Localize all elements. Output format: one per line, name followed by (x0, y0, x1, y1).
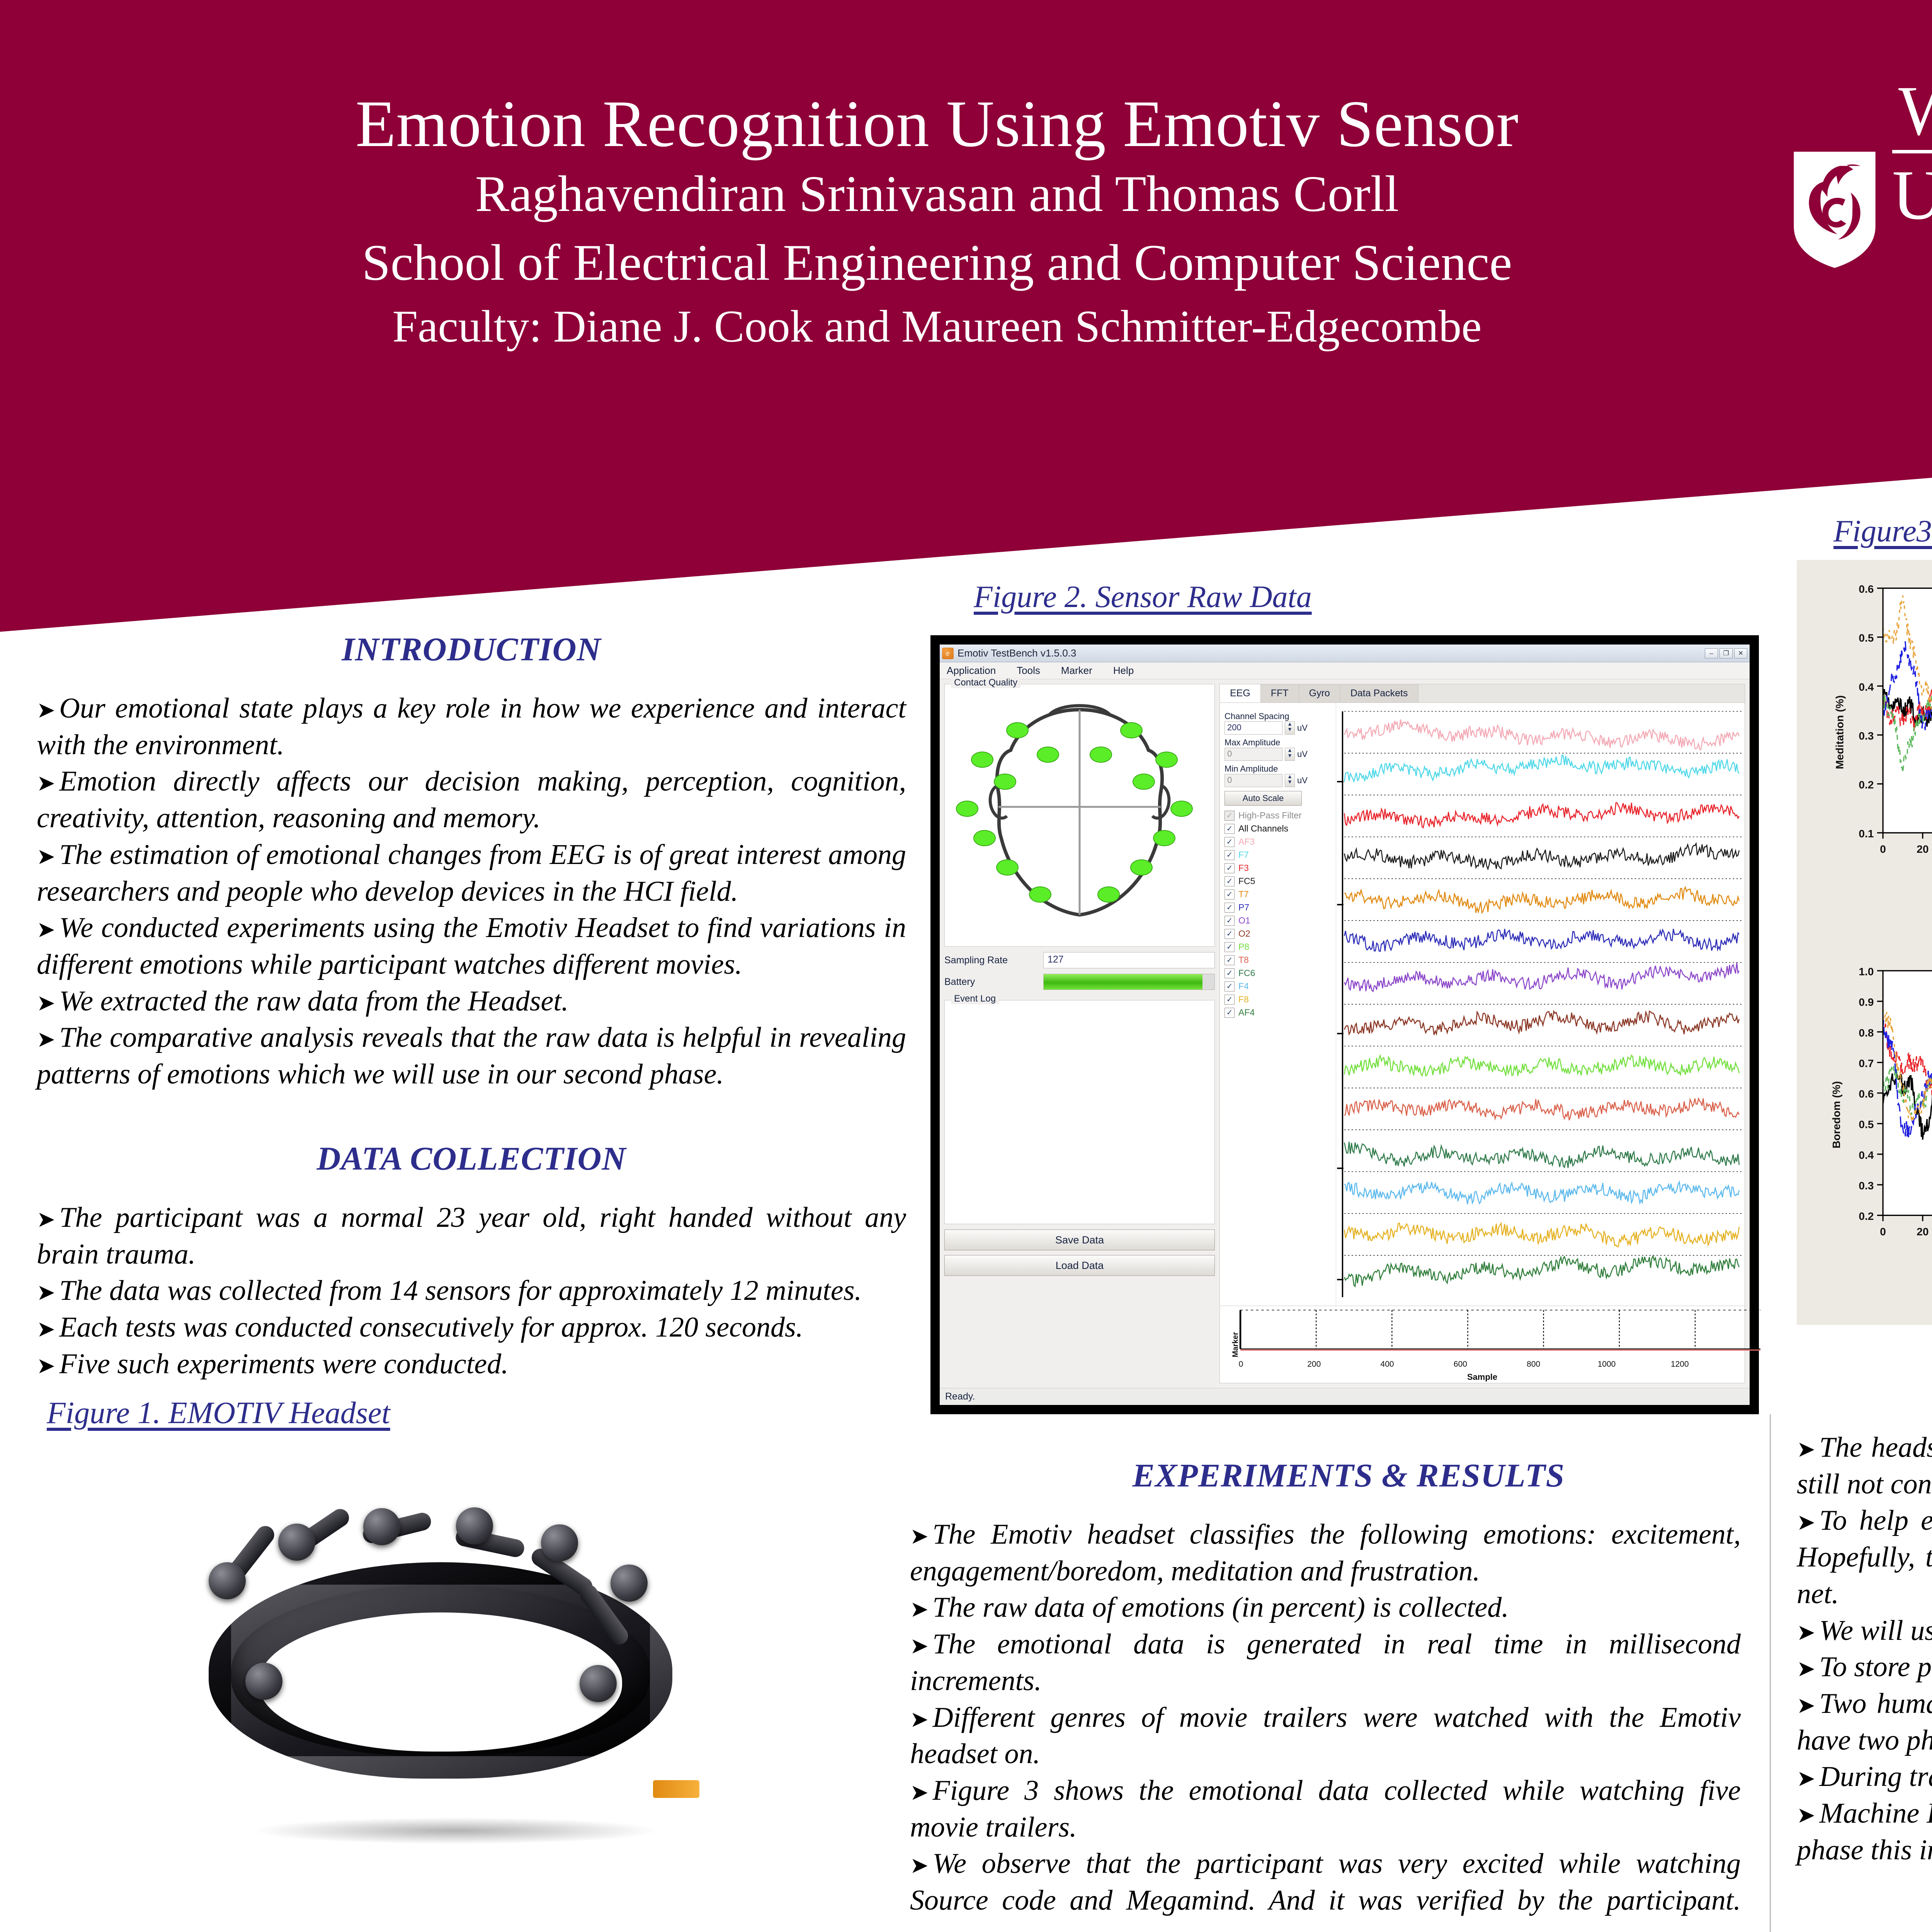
svg-text:0.7: 0.7 (1859, 1057, 1874, 1069)
affiliation: School of Electrical Engineering and Com… (97, 233, 1777, 292)
svg-text:0.4: 0.4 (1859, 1149, 1874, 1161)
svg-text:0.4: 0.4 (1859, 681, 1874, 693)
fp-bullet-4: To store poker and EEG data we will use … (1797, 1649, 1932, 1685)
channel-label-f7: F7 (1238, 850, 1249, 860)
right-column: Figure3. Variation of Emotions Variation… (1797, 514, 1932, 1869)
channel-label-p7: P7 (1238, 902, 1249, 913)
channel-row-f8[interactable]: ✓F8 (1225, 994, 1331, 1005)
fp-bullet-5: Two human players will use the Emotiv he… (1797, 1685, 1932, 1759)
dc-bullet-2: The data was collected from 14 sensors f… (37, 1272, 906, 1309)
eeg-trace-af4 (1344, 1256, 1739, 1286)
channel-row-p7[interactable]: ✓P7 (1225, 902, 1331, 913)
chart-meditation-plot: Meditation (%) 0.10.20.30.40.50.60204060… (1801, 582, 1932, 883)
fp-bullet-7: Machine Learning will classify if a play… (1797, 1795, 1932, 1868)
chart-boredom-title: Variation of BOREDOM (1801, 948, 1932, 961)
channel-row-t8[interactable]: ✓T8 (1225, 955, 1331, 965)
testbench-tabs: EEG FFT Gyro Data Packets (1220, 684, 1745, 703)
sensor-dot-ref1 (1029, 886, 1051, 903)
eeg-trace-t8 (1344, 1098, 1739, 1120)
save-data-button[interactable]: Save Data (944, 1230, 1215, 1250)
channel-label-fc5: FC5 (1238, 876, 1255, 886)
sampling-rate-value: 127 (1043, 952, 1215, 968)
figure2-caption: Figure 2. Sensor Raw Data (974, 580, 1312, 614)
max-amplitude-label: Max Amplitude (1225, 738, 1331, 748)
sensor-dot-ref2 (1097, 886, 1120, 903)
sample-tick-1200: 1200 (1671, 1360, 1689, 1369)
eeg-trace-f7 (1344, 755, 1739, 782)
svg-text:0.5: 0.5 (1859, 1119, 1874, 1131)
menu-item-application[interactable]: Application (947, 665, 996, 677)
channel-row-fc6[interactable]: ✓FC6 (1225, 968, 1331, 978)
channel-spacing-unit: uV (1297, 723, 1308, 733)
wsu-tagline: World Class. Face to Face. (1779, 287, 1932, 334)
battery-label: Battery (944, 976, 1037, 988)
data-collection-body: The participant was a normal 23 year old… (37, 1199, 906, 1383)
headset-sensor-node-7 (245, 1663, 282, 1700)
eeg-trace-f8 (1344, 1223, 1739, 1247)
min-amplitude-stepper[interactable]: ▲▼ (1285, 774, 1295, 787)
sample-tick-400: 400 (1381, 1360, 1394, 1369)
channel-row-af3[interactable]: ✓AF3 (1225, 837, 1331, 847)
channel-row-f7[interactable]: ✓F7 (1225, 850, 1331, 860)
exp-bullet-2: The raw data of emotions (in percent) is… (910, 1589, 1741, 1626)
channel-control-panel: Channel Spacing 200 ▲▼ uV Max Amplitude … (1220, 703, 1336, 1306)
sample-tick-200: 200 (1307, 1360, 1321, 1369)
figure1-caption-row: Figure 1. EMOTIV Headset (37, 1396, 906, 1431)
svg-text:0.2: 0.2 (1859, 1210, 1874, 1222)
tab-fft[interactable]: FFT (1261, 684, 1299, 702)
eeg-trace-o2 (1344, 1011, 1739, 1035)
channel-checkbox-af4[interactable]: ✓ (1225, 1008, 1235, 1018)
left-column: INTRODUCTION Our emotional state plays a… (37, 630, 906, 1856)
headset-sensor-node-1 (209, 1562, 246, 1599)
sensor-dot-t7 (956, 801, 978, 817)
wsu-logo-line2-row: UNIVERSITY (1779, 150, 1932, 270)
tab-eeg[interactable]: EEG (1220, 684, 1261, 702)
exp-bullet-1: The Emotiv headset classifies the follow… (910, 1516, 1741, 1589)
min-amplitude-unit: uV (1297, 776, 1308, 786)
faculty-advisors: Faculty: Diane J. Cook and Maureen Schmi… (97, 301, 1777, 353)
sampling-rate-label: Sampling Rate (944, 955, 1037, 966)
tab-gyro[interactable]: Gyro (1299, 684, 1340, 702)
eeg-tab-body: Channel Spacing 200 ▲▼ uV Max Amplitude … (1220, 703, 1745, 1306)
channel-checkbox-f4[interactable]: ✓ (1225, 981, 1235, 992)
introduction-body: Our emotional state plays a key role in … (37, 690, 906, 1093)
exp-bullet-6: We observe that the participant was very… (910, 1845, 1741, 1932)
testbench-statusbar: Ready. (940, 1388, 1750, 1405)
figure1-caption: Figure 1. EMOTIV Headset (47, 1396, 390, 1430)
headset-shadow (251, 1817, 661, 1844)
intro-bullet-6: The comparative analysis reveals that th… (37, 1019, 906, 1092)
tab-data-packets[interactable]: Data Packets (1340, 684, 1418, 702)
eeg-trace-f3 (1344, 803, 1739, 828)
headset-sensor-node-2 (278, 1524, 315, 1561)
svg-text:0.6: 0.6 (1859, 583, 1874, 595)
chart-boredom-xlabel: Time (s) (1801, 1266, 1932, 1279)
wsu-logo-rule (1892, 150, 1932, 153)
channel-checkbox-o1[interactable]: ✓ (1225, 916, 1235, 926)
min-amplitude-label: Min Amplitude (1225, 764, 1331, 774)
poster-header: Emotion Recognition Using Emotiv Sensor … (0, 0, 1932, 657)
eeg-trace-p8 (1344, 1055, 1739, 1076)
testbench-right-pane: EEG FFT Gyro Data Packets Channel Spacin… (1219, 684, 1745, 1383)
eeg-trace-t7 (1344, 887, 1739, 913)
page-title: Emotion Recognition Using Emotiv Sensor (97, 89, 1777, 159)
experiments-heading: EXPERIMENTS & RESULTS (910, 1456, 1787, 1495)
channel-row-o1[interactable]: ✓O1 (1225, 915, 1331, 926)
sensor-dot-fc5 (994, 774, 1016, 790)
chart-boredom: Variation of BOREDOM Boredom (%) 0.20.30… (1797, 942, 1932, 1325)
dc-bullet-3: Each tests was conducted consecutively f… (37, 1309, 906, 1346)
intro-bullet-5: We extracted the raw data from the Heads… (37, 983, 906, 1020)
headset-sensor-node-8 (580, 1665, 617, 1702)
wsu-u-cap: U (1892, 156, 1932, 234)
head-map-diagram (953, 693, 1206, 938)
channel-label-f4: F4 (1238, 981, 1249, 992)
sample-tick-1000: 1000 (1598, 1360, 1616, 1369)
marker-plot: Marker 02004 (1220, 1306, 1745, 1383)
chart-meditation-xlabel: Time (s) (1801, 884, 1932, 896)
channel-checkbox-fc5[interactable]: ✓ (1225, 876, 1235, 886)
future-plans-body: The headset shows promising results of g… (1797, 1429, 1932, 1869)
intro-bullet-2: Emotion directly affects our decision ma… (37, 763, 906, 836)
channel-label-f8: F8 (1238, 994, 1249, 1005)
testbench-titlebar: e Emotiv TestBench v1.5.0.3 – ❐ ✕ (940, 645, 1750, 662)
sample-tick-0: 0 (1239, 1360, 1243, 1369)
minimize-button[interactable]: – (1705, 648, 1718, 658)
svg-text:20: 20 (1917, 843, 1929, 855)
testbench-body: Contact Quality (940, 679, 1750, 1388)
sensor-dot-p7 (973, 830, 996, 846)
eeg-trace-af3 (1344, 719, 1739, 750)
figure3-charts-panel: Variation of MEDITATION Meditation (%) 0… (1797, 560, 1932, 1325)
channel-spacing-label: Channel Spacing (1225, 711, 1331, 721)
window-title: Emotiv TestBench v1.5.0.3 (957, 647, 1703, 659)
dc-bullet-1: The participant was a normal 23 year old… (37, 1199, 906, 1272)
channel-label-af3: AF3 (1238, 837, 1255, 847)
menu-item-tools[interactable]: Tools (1017, 665, 1040, 677)
emotiv-app-icon: e (942, 648, 954, 659)
channel-checkbox-f3[interactable]: ✓ (1225, 863, 1235, 873)
channel-label-p8: P8 (1238, 942, 1249, 952)
sampling-rate-row: Sampling Rate 127 (944, 952, 1215, 968)
high-pass-filter-checkbox-row[interactable]: ✓ High-Pass Filter (1225, 810, 1331, 821)
svg-text:0.1: 0.1 (1859, 828, 1874, 840)
headset-inner-cutout (259, 1612, 622, 1752)
channel-spacing-stepper[interactable]: ▲▼ (1285, 721, 1295, 735)
all-channels-checkbox[interactable]: ✓ (1225, 824, 1235, 834)
sensor-dot-f7 (971, 752, 993, 768)
chart-meditation-title: Variation of MEDITATION (1801, 565, 1932, 578)
battery-gauge (1043, 974, 1215, 990)
future-plans-heading: FUTURE PLANS (1797, 1371, 1932, 1410)
intro-bullet-3: The estimation of emotional changes from… (37, 837, 906, 910)
menu-item-help[interactable]: Help (1113, 665, 1134, 677)
sensor-dot-af4 (1120, 722, 1143, 738)
svg-text:0.6: 0.6 (1859, 1088, 1874, 1100)
channel-row-f3[interactable]: ✓F3 (1225, 863, 1331, 873)
introduction-heading: INTRODUCTION (37, 630, 906, 668)
channel-label-fc6: FC6 (1238, 968, 1255, 978)
channel-spacing-input[interactable]: 200 (1225, 721, 1282, 735)
channel-label-t7: T7 (1238, 889, 1249, 900)
headset-sensor-node-6 (611, 1565, 648, 1602)
experiments-body: The Emotiv headset classifies the follow… (910, 1516, 1741, 1932)
eeg-trace-fc5 (1344, 844, 1739, 869)
wsu-logo: WASHINGTON STATE UNIVERSITY World Class.… (1779, 75, 1932, 334)
svg-text:0.5: 0.5 (1859, 632, 1874, 644)
testbench-inner: e Emotiv TestBench v1.5.0.3 – ❐ ✕ Applic… (940, 645, 1750, 1405)
intro-bullet-4: We conducted experiments using the Emoti… (37, 910, 906, 983)
sample-tick-600: 600 (1454, 1360, 1467, 1369)
battery-row: Battery (944, 974, 1215, 990)
testbench-left-pane: Contact Quality (944, 684, 1215, 1383)
chart-meditation: Variation of MEDITATION Meditation (%) 0… (1797, 560, 1932, 942)
fp-bullet-2: To help ensure success of the project, w… (1797, 1502, 1932, 1612)
close-button[interactable]: ✕ (1734, 648, 1747, 658)
high-pass-filter-label: High-Pass Filter (1238, 810, 1302, 821)
all-channels-checkbox-row[interactable]: ✓ All Channels (1225, 823, 1331, 834)
headset-sensor-node-4 (456, 1507, 493, 1544)
eeg-trace-p7 (1344, 929, 1739, 951)
headset-sensor-node-5 (541, 1524, 578, 1561)
exp-bullet-3: The emotional data is generated in real … (910, 1626, 1741, 1699)
exp-bullet-5: Figure 3 shows the emotional data collec… (910, 1772, 1741, 1845)
wsu-w-cap: W (1898, 71, 1932, 150)
testbench-menubar: Application Tools Marker Help (940, 662, 1750, 679)
intro-bullet-1: Our emotional state plays a key role in … (37, 690, 906, 763)
headset-sensor-node-3 (363, 1508, 400, 1545)
svg-text:0.8: 0.8 (1859, 1027, 1874, 1039)
svg-text:0.2: 0.2 (1859, 779, 1874, 791)
channel-label-f3: F3 (1238, 863, 1249, 873)
channel-checkbox-t7[interactable]: ✓ (1225, 889, 1235, 900)
channel-row-fc5[interactable]: ✓FC5 (1225, 876, 1331, 886)
exp-bullet-6-text: We observe that the participant was very… (910, 1848, 1741, 1916)
auto-scale-button[interactable]: Auto Scale (1225, 791, 1302, 806)
wsu-logo-line1: WASHINGTON STATE (1779, 75, 1932, 146)
figure2-caption-row: Figure 2. Sensor Raw Data (910, 580, 1787, 615)
contact-quality-group: Contact Quality (944, 684, 1215, 947)
all-channels-label: All Channels (1238, 823, 1288, 834)
channel-checkbox-list: ✓AF3✓F7✓F3✓FC5✓T7✓P7✓O1✓O2✓P8✓T8✓FC6✓F4✓… (1225, 837, 1331, 1018)
eeg-waveform-plot (1336, 703, 1745, 1306)
battery-fill (1044, 974, 1202, 990)
dc-bullet-4: Five such experiments were conducted. (37, 1346, 906, 1383)
svg-text:0: 0 (1880, 843, 1886, 855)
sample-axis-label: Sample (1220, 1372, 1745, 1382)
channel-label-o2: O2 (1238, 929, 1250, 939)
max-amplitude-stepper[interactable]: ▲▼ (1285, 748, 1295, 761)
channel-row-f4[interactable]: ✓F4 (1225, 981, 1331, 992)
channel-label-af4: AF4 (1238, 1007, 1255, 1018)
chart-boredom-plot: Boredom (%) 0.20.30.40.50.60.70.80.91.00… (1801, 964, 1932, 1265)
eeg-trace-o1 (1344, 963, 1739, 991)
eeg-trace-fc6 (1344, 1142, 1739, 1168)
emotiv-testbench-window[interactable]: e Emotiv TestBench v1.5.0.3 – ❐ ✕ Applic… (931, 636, 1758, 1413)
channel-checkbox-p8[interactable]: ✓ (1225, 942, 1235, 952)
sensor-dot-f8 (1155, 752, 1178, 768)
figure1-emotiv-headset-image (162, 1446, 781, 1856)
channel-row-t7[interactable]: ✓T7 (1225, 889, 1331, 900)
sensor-dot-t8 (1170, 801, 1193, 817)
emotiv-logo-icon (653, 1780, 699, 1798)
channel-checkbox-p7[interactable]: ✓ (1225, 903, 1235, 913)
channel-checkbox-fc6[interactable]: ✓ (1225, 968, 1235, 978)
max-amplitude-input[interactable]: 0 (1225, 748, 1282, 761)
load-data-button[interactable]: Load Data (944, 1255, 1215, 1276)
svg-text:20: 20 (1917, 1226, 1929, 1238)
event-log-group[interactable]: Event Log (944, 1000, 1215, 1224)
channel-checkbox-o2[interactable]: ✓ (1225, 929, 1235, 939)
svg-text:0.9: 0.9 (1859, 996, 1874, 1008)
svg-text:0.3: 0.3 (1859, 730, 1874, 742)
channel-checkbox-af3[interactable]: ✓ (1225, 837, 1235, 847)
figure3-caption-row: Figure3. Variation of Emotions (1797, 514, 1932, 549)
authors: Raghavendiran Srinivasan and Thomas Corl… (97, 165, 1777, 223)
fp-bullet-1: The headset shows promising results of g… (1797, 1429, 1932, 1502)
menu-item-marker[interactable]: Marker (1061, 665, 1092, 677)
min-amplitude-row: 0 ▲▼ uV (1225, 774, 1331, 787)
channel-row-o2[interactable]: ✓O2 (1225, 929, 1331, 939)
maximize-button[interactable]: ❐ (1719, 648, 1733, 658)
svg-text:1.0: 1.0 (1859, 966, 1874, 978)
channel-label-t8: T8 (1238, 955, 1249, 965)
data-collection-heading: DATA COLLECTION (37, 1139, 906, 1178)
max-amplitude-row: 0 ▲▼ uV (1225, 748, 1331, 761)
sensor-dot-p8 (1153, 830, 1175, 846)
channel-checkbox-f8[interactable]: ✓ (1225, 995, 1235, 1005)
fp-bullet-6: During training, the humans and an AI ag… (1797, 1759, 1932, 1795)
channel-checkbox-f7[interactable]: ✓ (1225, 850, 1235, 860)
wsu-cougar-shield-icon (1790, 150, 1879, 270)
channel-spacing-row: 200 ▲▼ uV (1225, 721, 1331, 735)
channel-row-p8[interactable]: ✓P8 (1225, 942, 1331, 952)
sample-tick-800: 800 (1527, 1360, 1540, 1369)
min-amplitude-input[interactable]: 0 (1225, 774, 1282, 787)
sample-axis-ticks: 020040060080010001200 (1237, 1360, 1743, 1370)
event-log-label: Event Log (951, 993, 999, 1004)
channel-label-o1: O1 (1238, 915, 1250, 926)
title-block: Emotion Recognition Using Emotiv Sensor … (97, 89, 1777, 352)
eeg-trace-f4 (1344, 1182, 1739, 1204)
channel-checkbox-t8[interactable]: ✓ (1225, 955, 1235, 965)
fp-bullet-3: We will use the open source program Poke… (1797, 1612, 1932, 1649)
sensor-dot-o1 (996, 859, 1019, 876)
figure3-caption: Figure3. Variation of Emotions (1833, 514, 1932, 548)
contact-quality-label: Contact Quality (951, 677, 1020, 688)
channel-row-af4[interactable]: ✓AF4 (1225, 1007, 1331, 1018)
sensor-dot-o2 (1130, 859, 1153, 876)
exp-bullet-4: Different genres of movie trailers were … (910, 1699, 1741, 1772)
high-pass-filter-checkbox[interactable]: ✓ (1225, 811, 1235, 821)
wsu-logo-line2: UNIVERSITY (1892, 160, 1932, 230)
svg-text:0: 0 (1880, 1226, 1886, 1238)
middle-column: Figure 2. Sensor Raw Data e Emotiv TestB… (910, 580, 1787, 1932)
svg-text:0.3: 0.3 (1859, 1180, 1874, 1192)
max-amplitude-unit: uV (1297, 749, 1308, 759)
